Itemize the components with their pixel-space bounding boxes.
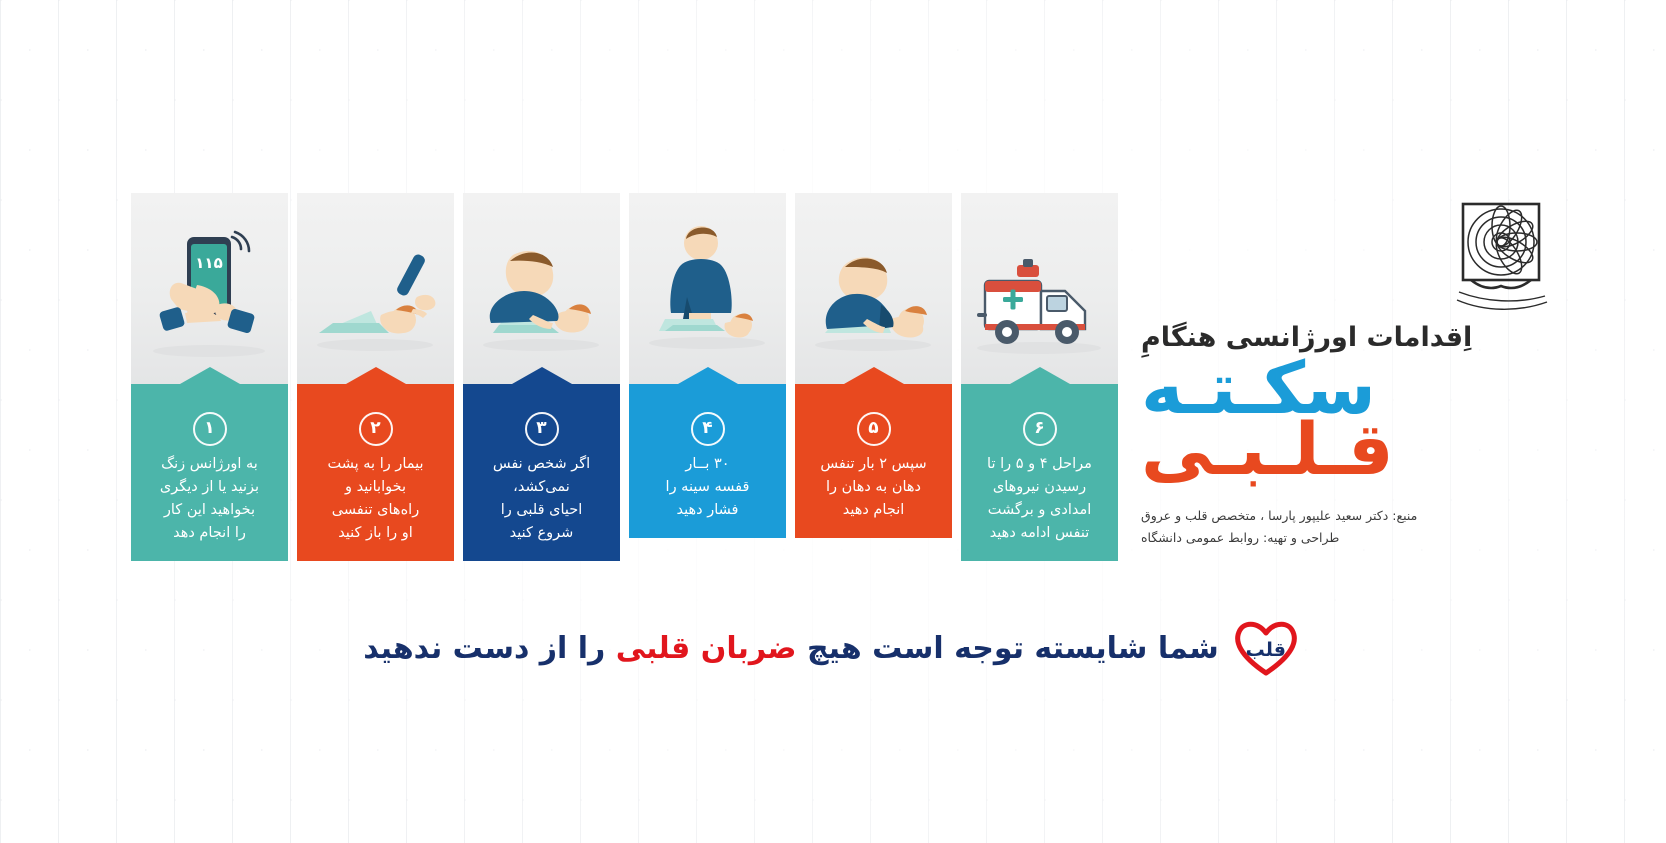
ambulance-icon: [961, 193, 1118, 384]
step-text-1: به اورژانس زنگ بزنید یا از دیگری بخواهید…: [142, 453, 277, 545]
slogan-highlight: ضربان قلبی: [616, 631, 797, 666]
mouth-to-mouth-icon: [795, 193, 952, 384]
page-title-word-ghalbi: قـلـبـی: [1141, 416, 1561, 483]
credit-source: منبع: دکتر سعید علیپور پارسا ، متخصص قلب…: [1141, 505, 1561, 527]
step-illustration-check-breathing: [463, 193, 620, 384]
step-text-6: مراحل ۴ و ۵ را تا رسیدن نیروهای امدادی و…: [972, 453, 1107, 545]
step-number-4: ۴: [691, 412, 725, 446]
step-number-1: ۱: [193, 412, 227, 446]
step-text-2: بیمار را به پشت بخوابانید و راه‌های تنفس…: [308, 453, 443, 545]
footer-slogan: قلب شما شایسته توجه است هیچ ضربان قلبی ر…: [0, 617, 1666, 683]
slogan-part1: شما شایسته توجه است هیچ: [807, 631, 1219, 666]
step-card-4[interactable]: ۴ ۳۰ بــار قفسه سینه را فشار دهید: [629, 193, 786, 561]
step-body-3: ۳ اگر شخص نفس نمی‌کشد، احیای قلبی را شرو…: [463, 384, 620, 561]
step-number-2: ۲: [359, 412, 393, 446]
step-illustration-mouth-to-mouth: [795, 193, 952, 384]
open-airway-icon: [297, 193, 454, 384]
slogan-text: شما شایسته توجه است هیچ ضربان قلبی را از…: [363, 631, 1218, 666]
step-illustration-open-airway: [297, 193, 454, 384]
step-text-4: ۳۰ بــار قفسه سینه را فشار دهید: [640, 453, 775, 522]
step-card-6[interactable]: ۶ مراحل ۴ و ۵ را تا رسیدن نیروهای امدادی…: [961, 193, 1118, 561]
step-illustration-compression: [629, 193, 786, 384]
step-body-4: ۴ ۳۰ بــار قفسه سینه را فشار دهید: [629, 384, 786, 538]
heart-badge: قلب: [1229, 617, 1303, 679]
step-body-5: ۵ سپس ۲ بار تنفس دهان به دهان را انجام د…: [795, 384, 952, 538]
step-body-6: ۶ مراحل ۴ و ۵ را تا رسیدن نیروهای امدادی…: [961, 384, 1118, 561]
phone-115-icon: ۱۱۵: [131, 193, 288, 384]
chest-compression-icon: [629, 193, 786, 384]
brand-block: اِقدامات اورژانسی هنگامِ سکـتـه قـلـبـی …: [1141, 196, 1561, 549]
step-body-2: ۲ بیمار را به پشت بخوابانید و راه‌های تن…: [297, 384, 454, 561]
university-logo-icon: [1441, 196, 1561, 316]
step-card-5[interactable]: ۵ سپس ۲ بار تنفس دهان به دهان را انجام د…: [795, 193, 952, 561]
step-card-2[interactable]: ۲ بیمار را به پشت بخوابانید و راه‌های تن…: [297, 193, 454, 561]
step-body-1: ۱ به اورژانس زنگ بزنید یا از دیگری بخواه…: [131, 384, 288, 561]
steps-container: ۶ مراحل ۴ و ۵ را تا رسیدن نیروهای امدادی…: [131, 193, 1118, 561]
credit-design: طراحی و تهیه: روابط عمومی دانشگاه: [1141, 527, 1561, 549]
credits-block: منبع: دکتر سعید علیپور پارسا ، متخصص قلب…: [1141, 505, 1561, 549]
page-title-main: سکـتـه قـلـبـی: [1141, 355, 1561, 483]
step-illustration-phone: ۱۱۵: [131, 193, 288, 384]
step-card-1[interactable]: ۱۱۵ ۱ به اورژانس زنگ بزنید یا از دیگری ب…: [131, 193, 288, 561]
step-illustration-ambulance: [961, 193, 1118, 384]
step-text-5: سپس ۲ بار تنفس دهان به دهان را انجام دهی…: [806, 453, 941, 522]
emergency-number: ۱۱۵: [195, 254, 222, 272]
slogan-part2: را از دست ندهید: [363, 631, 605, 666]
step-card-3[interactable]: ۳ اگر شخص نفس نمی‌کشد، احیای قلبی را شرو…: [463, 193, 620, 561]
heart-label: قلب: [1229, 639, 1303, 661]
step-number-5: ۵: [857, 412, 891, 446]
check-breathing-icon: [463, 193, 620, 384]
step-text-3: اگر شخص نفس نمی‌کشد، احیای قلبی را شروع …: [474, 453, 609, 545]
step-number-6: ۶: [1023, 412, 1057, 446]
step-number-3: ۳: [525, 412, 559, 446]
